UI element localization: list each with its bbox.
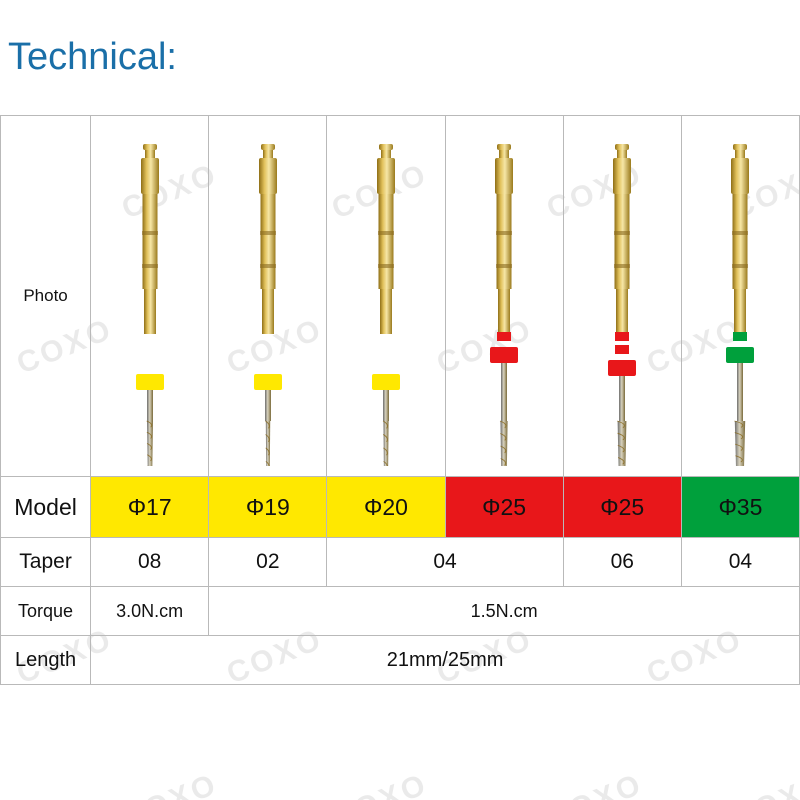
file-illustration-3 [327, 126, 444, 466]
length-cell-1: 21mm/25mm [91, 636, 800, 685]
photo-cell-2 [209, 116, 327, 477]
model-cell-5: Φ25 [563, 477, 681, 538]
model-cell-2: Φ19 [209, 477, 327, 538]
model-cell-4: Φ25 [445, 477, 563, 538]
taper-cell-4: 06 [563, 538, 681, 587]
row-label-taper: Taper [1, 538, 91, 587]
torque-cell-2: 1.5N.cm [209, 587, 800, 636]
spec-table: Photo Model Φ17 Φ19 Φ20 Φ25 Φ25 Φ35 [0, 115, 800, 685]
watermark-text: COXO [117, 767, 223, 800]
table-row-taper: Taper 08 02 04 06 04 [1, 538, 800, 587]
photo-cell-6 [681, 116, 799, 477]
model-cell-1: Φ17 [91, 477, 209, 538]
table-row-length: Length 21mm/25mm [1, 636, 800, 685]
photo-cell-5 [563, 116, 681, 477]
table-row-torque: Torque 3.0N.cm 1.5N.cm [1, 587, 800, 636]
model-cell-6: Φ35 [681, 477, 799, 538]
watermark-text: COXO [727, 767, 800, 800]
technical-spec-page: COXOCOXOCOXOCOXOCOXOCOXOCOXOCOXOCOXOCOXO… [0, 0, 800, 800]
endodontic-file-graphic [720, 136, 760, 466]
row-label-photo: Photo [1, 116, 91, 477]
model-cell-3: Φ20 [327, 477, 445, 538]
file-illustration-4 [446, 126, 563, 466]
row-label-torque: Torque [1, 587, 91, 636]
endodontic-file-graphic [602, 136, 642, 466]
taper-cell-5: 04 [681, 538, 799, 587]
taper-cell-2: 02 [209, 538, 327, 587]
row-label-length: Length [1, 636, 91, 685]
table-row-model: Model Φ17 Φ19 Φ20 Φ25 Φ25 Φ35 [1, 477, 800, 538]
file-illustration-5 [564, 126, 681, 466]
photo-cell-3 [327, 116, 445, 477]
endodontic-file-graphic [484, 136, 524, 466]
file-illustration-6 [682, 126, 799, 466]
endodontic-file-graphic [366, 136, 406, 466]
page-title: Technical: [8, 36, 177, 79]
file-illustration-2 [209, 126, 326, 466]
row-label-model: Model [1, 477, 91, 538]
endodontic-file-graphic [248, 136, 288, 466]
table-row-photo: Photo [1, 116, 800, 477]
photo-cell-4 [445, 116, 563, 477]
endodontic-file-graphic [130, 136, 170, 466]
torque-cell-1: 3.0N.cm [91, 587, 209, 636]
spec-table-container: Photo Model Φ17 Φ19 Φ20 Φ25 Φ25 Φ35 [0, 115, 800, 685]
taper-cell-3: 04 [327, 538, 563, 587]
taper-cell-1: 08 [91, 538, 209, 587]
photo-cell-1 [91, 116, 209, 477]
watermark-text: COXO [542, 767, 648, 800]
watermark-text: COXO [327, 767, 433, 800]
file-illustration-1 [91, 126, 208, 466]
